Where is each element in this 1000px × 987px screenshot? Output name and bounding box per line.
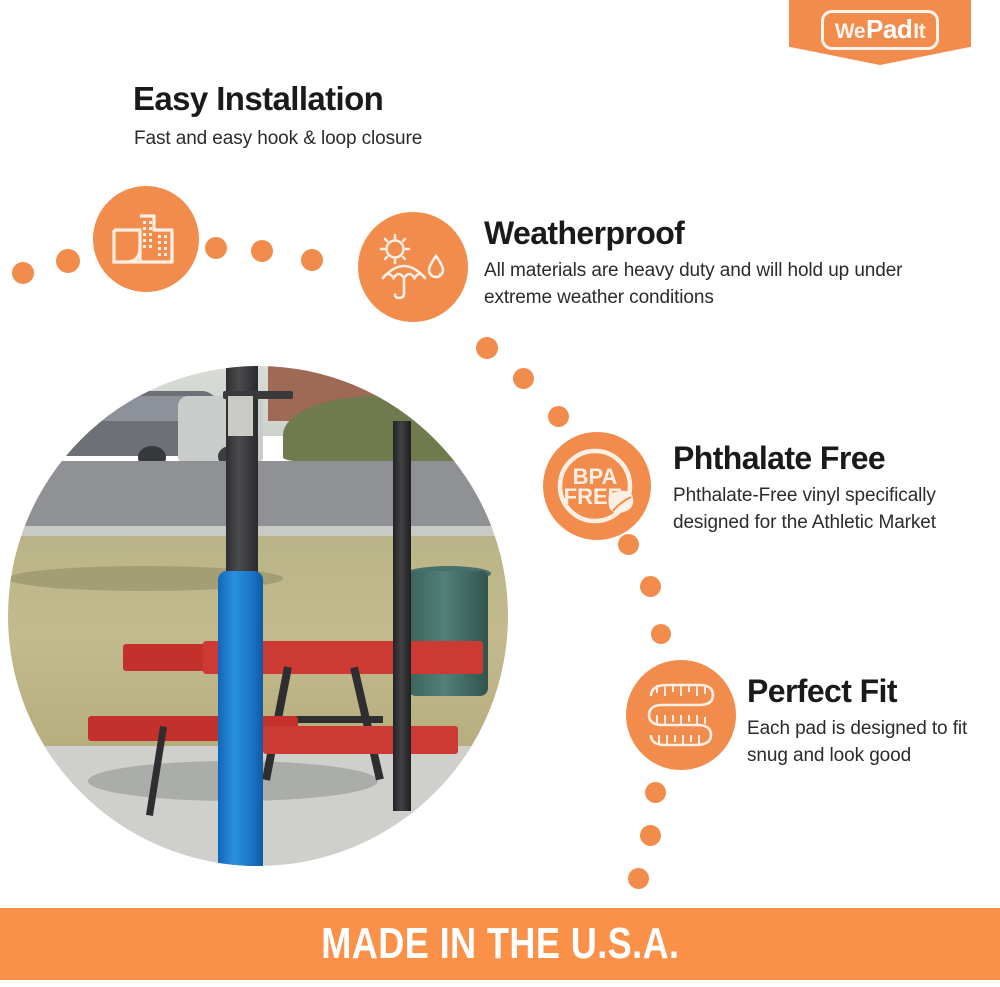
infographic-page: We Pad It Easy Installation Fast and eas… — [0, 0, 1000, 987]
logo-text-we: We — [835, 21, 865, 42]
feature-desc-phthalate-free: Phthalate-Free vinyl specifically design… — [673, 483, 943, 537]
trail-dot — [640, 825, 661, 846]
feature-desc-weatherproof: All materials are heavy duty and will ho… — [484, 258, 914, 312]
feature-title-phthalate-free: Phthalate Free — [673, 440, 885, 477]
trail-dot — [548, 406, 569, 427]
trail-dot — [645, 782, 666, 803]
made-in-usa-banner: MADE IN THE U.S.A. — [0, 908, 1000, 980]
trail-dot — [205, 237, 227, 259]
sun-umbrella-rain-icon — [358, 212, 468, 322]
feature-desc-easy-installation: Fast and easy hook & loop closure — [134, 126, 554, 153]
logo-text-pad: Pad — [866, 16, 912, 42]
trail-dot — [12, 262, 34, 284]
feature-title-perfect-fit: Perfect Fit — [747, 673, 897, 710]
trail-dot — [640, 576, 661, 597]
trail-dot — [56, 249, 80, 273]
logo-text-it: It — [913, 21, 925, 42]
feature-title-weatherproof: Weatherproof — [484, 215, 684, 252]
feature-title-easy-installation: Easy Installation — [133, 80, 383, 118]
feature-desc-perfect-fit: Each pad is designed to fit snug and loo… — [747, 716, 982, 770]
trail-dot — [651, 624, 671, 644]
trail-dot — [628, 868, 649, 889]
hook-and-loop-icon — [93, 186, 199, 292]
trail-dot — [476, 337, 498, 359]
trail-dot — [251, 240, 273, 262]
trail-dot — [618, 534, 639, 555]
made-in-usa-text: MADE IN THE U.S.A. — [321, 919, 679, 969]
measuring-tape-icon — [626, 660, 736, 770]
blue-pole-pad — [218, 571, 263, 866]
trail-dot — [301, 249, 323, 271]
brand-logo-plate: We Pad It — [821, 10, 939, 50]
trail-dot — [513, 368, 534, 389]
brand-logo-banner: We Pad It — [789, 0, 971, 65]
product-photo — [8, 366, 508, 866]
bpa-free-leaf-icon: BPA FREE — [543, 432, 651, 540]
